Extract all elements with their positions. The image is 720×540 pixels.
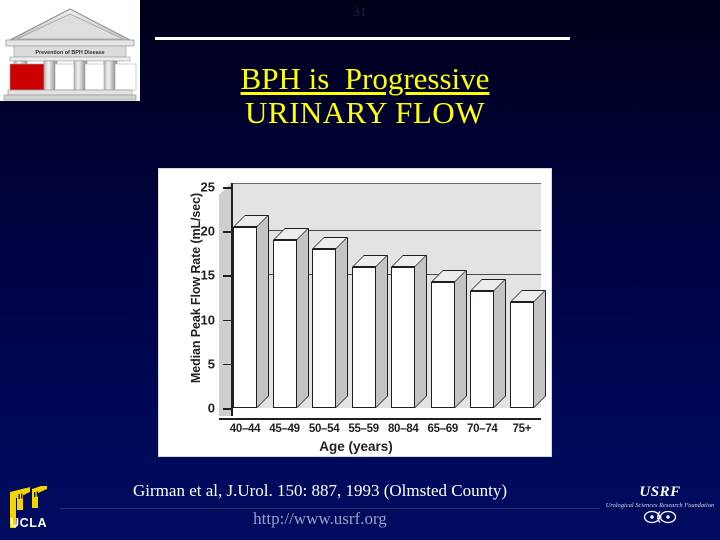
bar-front-face <box>273 240 297 408</box>
bar-chart: Median Peak Flow Rate (mL/sec) 051015202… <box>159 169 551 456</box>
bar-side-face <box>455 270 467 408</box>
bar-side-face <box>376 255 388 408</box>
page-title-primary: BPH is Progressive <box>140 62 590 95</box>
y-axis-title: Median Peak Flow Rate (mL/sec) <box>189 183 203 393</box>
bar-front-face <box>510 302 534 408</box>
ucla-logo: UCLA <box>6 486 66 534</box>
bar <box>391 267 415 408</box>
bar-side-face <box>415 255 427 408</box>
gridline <box>231 230 541 232</box>
bar <box>431 282 455 408</box>
title-block: BPH is Progressive URINARY FLOW <box>140 62 590 131</box>
bar-side-face <box>336 237 348 408</box>
y-tick-label: 20 <box>201 225 215 238</box>
x-tick-label: 40–44 <box>225 423 265 435</box>
bar-front-face <box>312 249 336 408</box>
logo-red-panel <box>10 64 44 90</box>
x-tick-label: 80–84 <box>383 423 423 435</box>
chart-card: Median Peak Flow Rate (mL/sec) 051015202… <box>158 168 552 457</box>
x-tick-label: 55–59 <box>344 423 384 435</box>
x-tick-label: 70–74 <box>462 423 502 435</box>
bar <box>352 267 376 408</box>
logo-frieze-text: Prevention of BPH Disease <box>35 50 104 56</box>
header-divider <box>155 37 570 40</box>
usrf-acronym: USRF <box>604 484 716 501</box>
bar-side-face <box>534 290 546 408</box>
bar <box>312 249 336 408</box>
y-tick-label: 0 <box>208 402 215 415</box>
bar <box>510 302 534 408</box>
y-tick-label: 15 <box>201 269 215 282</box>
page-title-secondary: URINARY FLOW <box>140 95 590 131</box>
x-tick-label: 65–69 <box>423 423 463 435</box>
prevention-of-bph-disease-logo: Prevention of BPH Disease <box>0 0 140 101</box>
usrf-subtitle: Urological Sciences Research Foundation <box>604 502 716 509</box>
bar-side-face <box>257 215 269 408</box>
x-tick-label: 45–49 <box>265 423 305 435</box>
usrf-logo: USRF Urological Sciences Research Founda… <box>604 484 716 534</box>
x-axis-title: Age (years) <box>159 439 553 454</box>
x-tick-label: 50–54 <box>304 423 344 435</box>
bar-front-face <box>233 227 257 408</box>
bar <box>273 240 297 408</box>
bar-front-face <box>470 291 494 408</box>
ucla-wordmark: UCLA <box>10 516 47 530</box>
x-tick-label: 75+ <box>502 423 542 435</box>
y-tick-label: 10 <box>201 313 215 326</box>
bar <box>470 291 494 408</box>
bar-side-face <box>297 228 309 408</box>
plot-left-wall <box>219 183 231 416</box>
y-tick-label: 5 <box>208 357 215 370</box>
citation-text: Girman et al, J.Urol. 150: 887, 1993 (Ol… <box>40 481 600 501</box>
y-tick-label: 25 <box>201 181 215 194</box>
bar-front-face <box>431 282 455 408</box>
bar-side-face <box>494 279 506 408</box>
x-axis-line <box>219 418 541 420</box>
bar-front-face <box>352 267 376 408</box>
plot-area: 0510152025 <box>219 183 541 420</box>
source-url-link[interactable]: http://www.usrf.org <box>40 509 600 529</box>
usrf-emblem-icon <box>604 510 716 529</box>
bar-front-face <box>391 267 415 408</box>
bar <box>233 227 257 408</box>
